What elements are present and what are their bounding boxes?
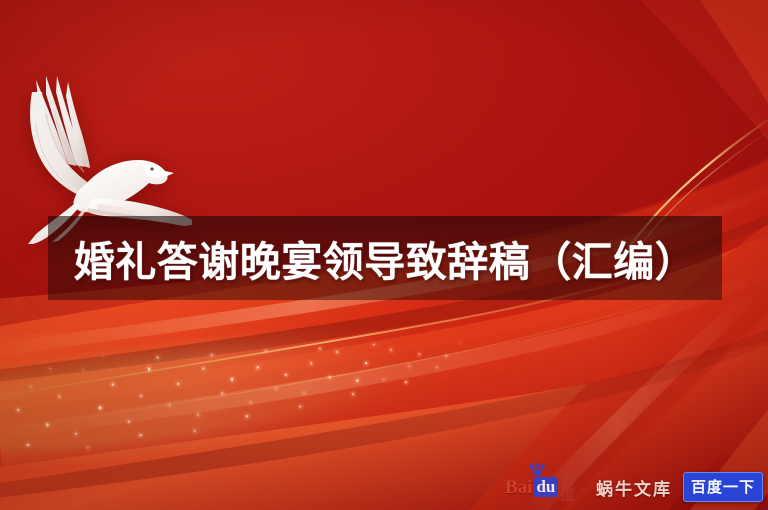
baidu-chinese-text: 百度 [560, 472, 585, 502]
page-title: 婚礼答谢晚宴领导致辞稿（汇编） [48, 216, 722, 300]
watermark-bar: Bai du 百度 蜗牛文库 百度一下 [505, 470, 763, 504]
baidu-paw-icon [528, 463, 548, 476]
baidu-du-text: du [533, 477, 558, 497]
baidu-logo[interactable]: Bai du 百度 [505, 472, 585, 502]
poster-canvas: 婚礼答谢晚宴领导致辞稿（汇编） Bai du 百度 蜗牛文库 百度一下 [0, 0, 768, 510]
baidu-search-button[interactable]: 百度一下 [683, 472, 763, 502]
baidu-bai-text: Bai [505, 478, 532, 497]
site-name-watermark: 蜗牛文库 [596, 475, 672, 500]
